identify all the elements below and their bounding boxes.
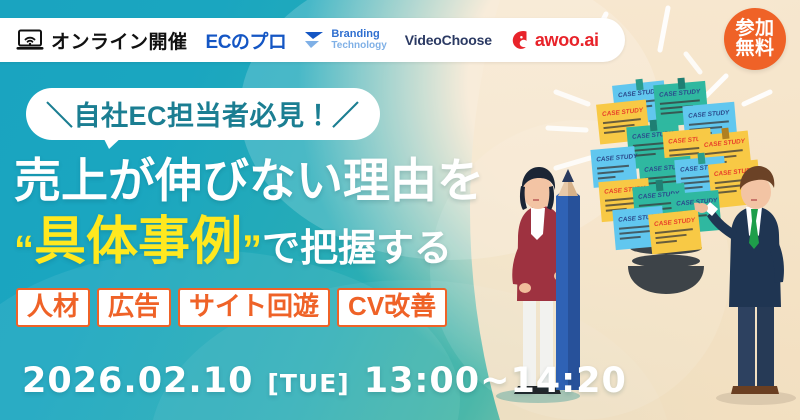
bt-line1: Branding <box>331 29 386 40</box>
triangle-arrow-icon <box>304 30 326 50</box>
headline-line-2-tail: で把握する <box>262 217 452 274</box>
keyword-tag-list: 人材 広告 サイト回遊 CV改善 <box>16 288 447 327</box>
keyword-tag: サイト回遊 <box>178 288 330 327</box>
logo-branding-technology: Branding Technology <box>304 29 386 50</box>
event-date: 2026.02.10 <box>22 361 253 401</box>
webinar-banner: オンライン開催 ECのプロ Branding Technology VideoC… <box>0 0 800 420</box>
headline-highlight: 具体事例 <box>34 199 242 274</box>
partner-logo-bar: オンライン開催 ECのプロ Branding Technology VideoC… <box>0 18 625 62</box>
free-badge-line1: 参加 <box>735 19 774 39</box>
event-time: 13:00~14:20 <box>364 361 627 401</box>
online-event-chip: オンライン開催 <box>16 27 188 54</box>
bt-line2: Technology <box>331 41 386 51</box>
laptop-wifi-icon <box>16 29 44 51</box>
keyword-tag: 広告 <box>97 288 171 327</box>
schedule-line: 2026.02.10 [TUE] 13:00~14:20 <box>22 361 627 401</box>
online-event-label: オンライン開催 <box>51 27 188 54</box>
catch-copy: ＼自社EC担当者必見！／ <box>26 88 380 140</box>
free-participation-badge: 参加 無料 <box>724 8 786 70</box>
branding-technology-text: Branding Technology <box>331 29 386 50</box>
event-day-of-week: [TUE] <box>267 369 349 398</box>
keyword-tag: 人材 <box>16 288 90 327</box>
awoo-a-mark-icon <box>510 29 530 51</box>
headline-line-2: “具体事例”で把握する <box>14 199 452 274</box>
keyword-tag: CV改善 <box>337 288 447 327</box>
quote-close: ” <box>242 230 262 270</box>
awoo-label: awoo.ai <box>535 30 599 51</box>
logo-videochoose: VideoChoose <box>405 32 492 48</box>
logo-ecpro: ECのプロ <box>206 27 287 54</box>
logo-awoo-ai: awoo.ai <box>510 29 599 51</box>
quote-open: “ <box>14 230 34 270</box>
free-badge-line2: 無料 <box>735 39 774 59</box>
catch-copy-wrap: ＼自社EC担当者必見！／ <box>26 88 380 140</box>
